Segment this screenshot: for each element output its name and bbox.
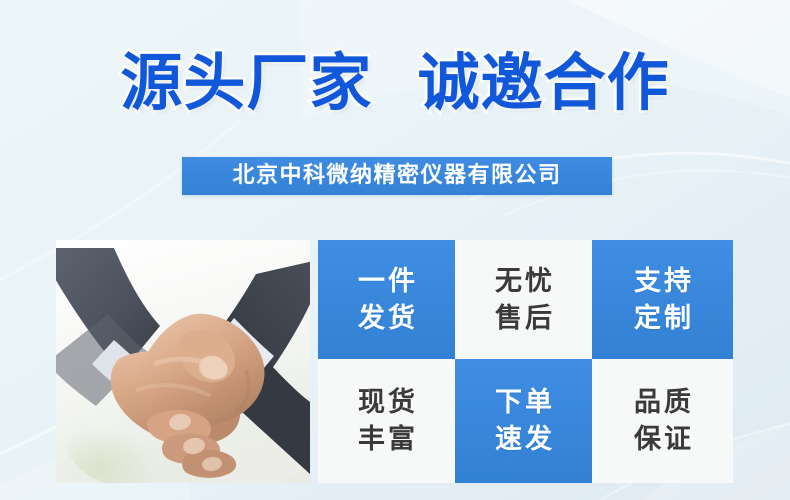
feature-cell-fast-dispatch[interactable]: 下单 速发 (455, 359, 592, 483)
feature-cell-ample-stock[interactable]: 现货 丰富 (318, 359, 455, 483)
feature-line1: 支持 (631, 263, 694, 300)
feature-cell-one-piece-shipping[interactable]: 一件 发货 (318, 240, 455, 359)
feature-line2: 保证 (631, 421, 694, 458)
company-name-bar: 北京中科微纳精密仪器有限公司 (182, 157, 612, 195)
feature-line2: 售后 (492, 300, 555, 337)
feature-line2: 发货 (355, 300, 418, 337)
handshake-photo (56, 240, 310, 483)
feature-line1: 下单 (492, 384, 555, 421)
feature-line1: 品质 (631, 384, 694, 421)
feature-line2: 定制 (631, 300, 694, 337)
feature-cell-quality-guarantee[interactable]: 品质 保证 (592, 359, 733, 483)
company-name-text: 北京中科微纳精密仪器有限公司 (232, 165, 561, 187)
feature-line2: 速发 (492, 421, 555, 458)
feature-cell-support-customization[interactable]: 支持 定制 (592, 240, 733, 359)
headline-title: 源头厂家 诚邀合作 (0, 40, 790, 126)
feature-cell-worry-free-service[interactable]: 无忧 售后 (455, 240, 592, 359)
feature-line2: 丰富 (355, 421, 418, 458)
promo-banner: 源头厂家 诚邀合作 北京中科微纳精密仪器有限公司 (0, 0, 790, 500)
feature-line1: 现货 (355, 384, 418, 421)
feature-line1: 一件 (355, 263, 418, 300)
feature-line1: 无忧 (492, 263, 555, 300)
feature-grid: 一件 发货 无忧 售后 支持 定制 现货 丰富 下单 速发 品质 保证 (318, 240, 733, 483)
